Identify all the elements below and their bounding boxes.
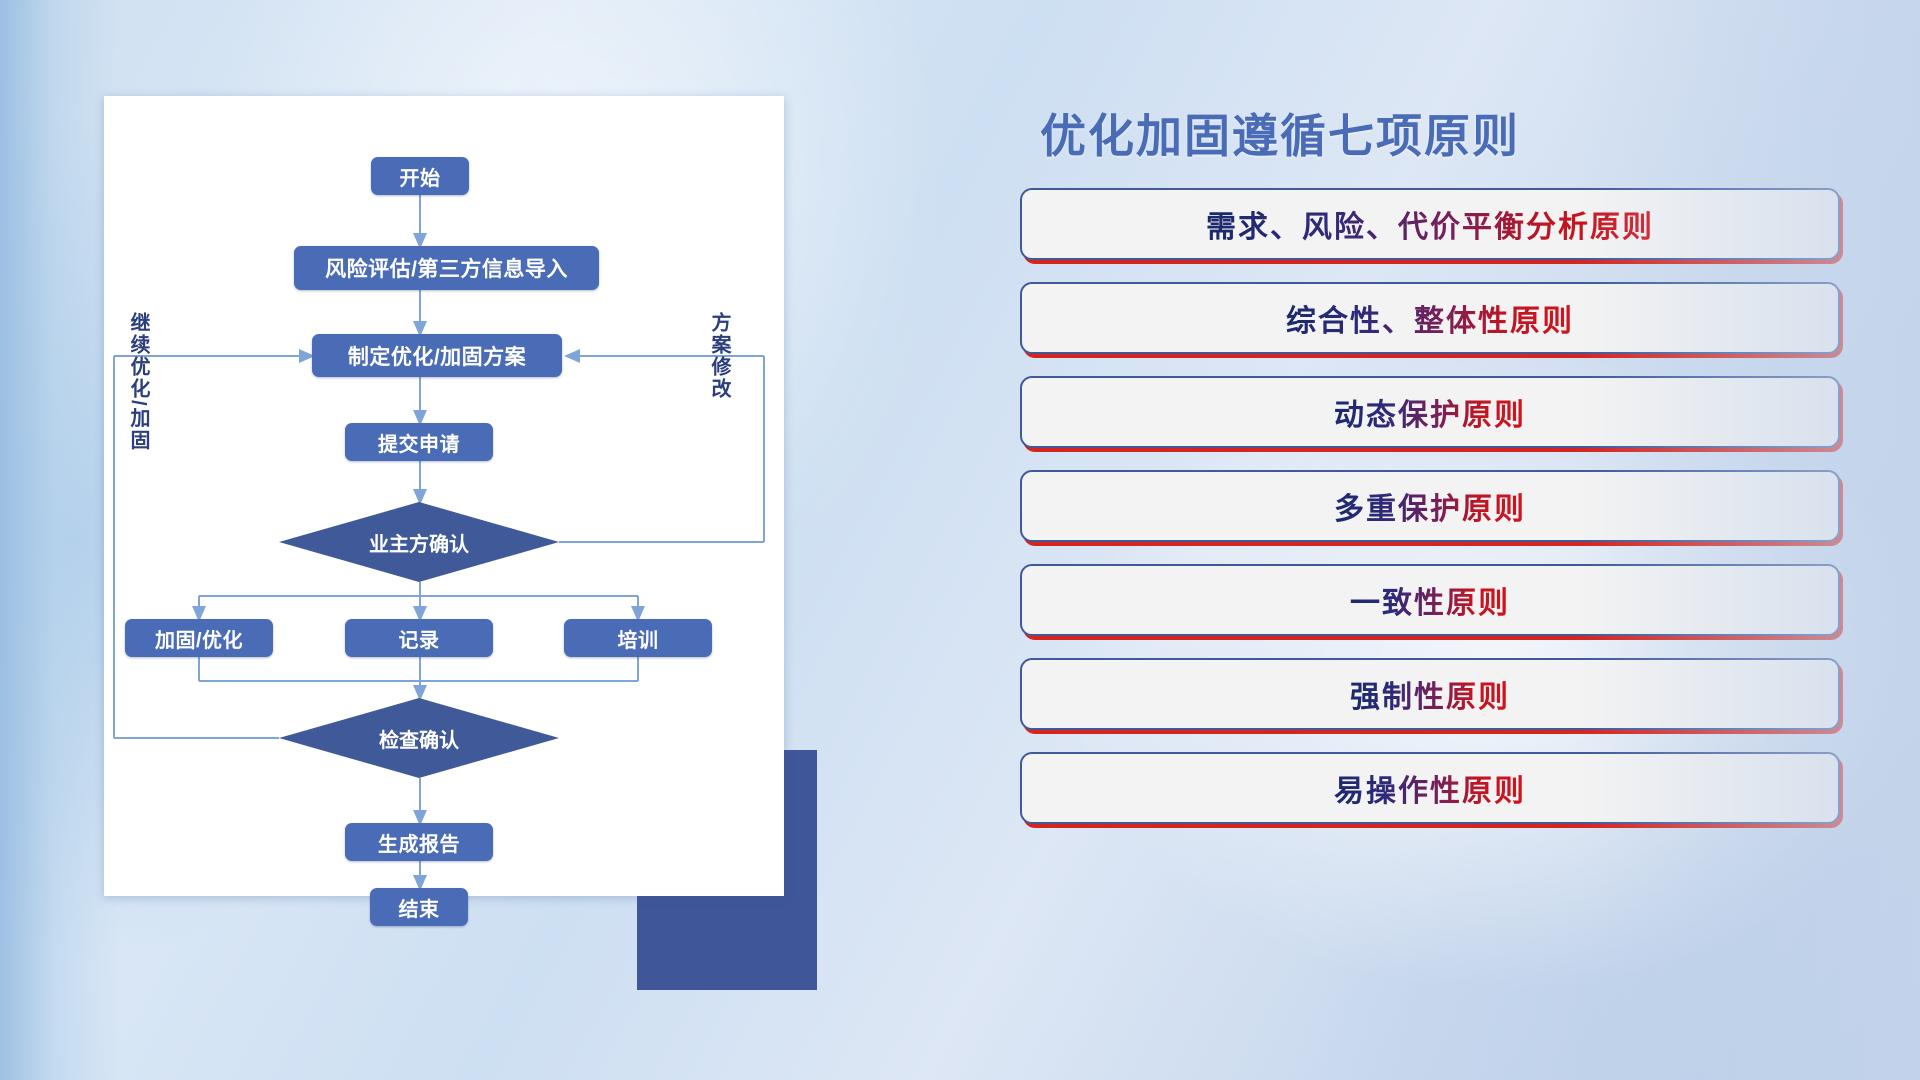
flow-node-check-confirm-label: 检查确认	[379, 724, 459, 753]
principle-item[interactable]: 需求、风险、代价平衡分析原则	[1020, 188, 1840, 260]
principle-label: 需求、风险、代价平衡分析原则	[1206, 202, 1654, 246]
flowchart-card: 开始 风险评估/第三方信息导入 制定优化/加固方案 提交申请 业主方确认 加固/…	[104, 96, 784, 896]
principle-label: 一致性原则	[1350, 578, 1510, 622]
flow-node-owner-confirm[interactable]: 业主方确认	[279, 502, 559, 582]
flow-node-risk-assessment[interactable]: 风险评估/第三方信息导入	[294, 246, 599, 290]
principles-panel: 优化加固遵循七项原则 需求、风险、代价平衡分析原则 综合性、整体性原则 动态保护…	[1020, 100, 1840, 824]
principle-label: 综合性、整体性原则	[1286, 296, 1574, 340]
principle-item[interactable]: 强制性原则	[1020, 658, 1840, 730]
flow-node-check-confirm[interactable]: 检查确认	[279, 698, 559, 778]
flow-node-training[interactable]: 培训	[564, 619, 712, 657]
principle-item[interactable]: 一致性原则	[1020, 564, 1840, 636]
flow-node-submit-application[interactable]: 提交申请	[345, 423, 493, 461]
flow-node-reinforce-optimize[interactable]: 加固/优化	[125, 619, 273, 657]
principle-label: 易操作性原则	[1334, 766, 1526, 810]
flow-node-end[interactable]: 结束	[370, 888, 468, 926]
principle-label: 强制性原则	[1350, 672, 1510, 716]
flow-node-start[interactable]: 开始	[371, 157, 469, 195]
principle-item[interactable]: 动态保护原则	[1020, 376, 1840, 448]
principle-item[interactable]: 综合性、整体性原则	[1020, 282, 1840, 354]
flow-edge-label-right-loop: 方案修改	[708, 312, 729, 400]
flow-edge-label-left-loop: 继续优化/加固	[127, 312, 148, 452]
principle-label: 多重保护原则	[1334, 484, 1526, 528]
flow-node-owner-confirm-label: 业主方确认	[369, 528, 469, 557]
flow-node-generate-report[interactable]: 生成报告	[345, 823, 493, 861]
principle-item[interactable]: 易操作性原则	[1020, 752, 1840, 824]
flow-node-record[interactable]: 记录	[345, 619, 493, 657]
panel-title: 优化加固遵循七项原则	[1040, 100, 1840, 166]
principle-label: 动态保护原则	[1334, 390, 1526, 434]
flow-node-make-plan[interactable]: 制定优化/加固方案	[312, 334, 562, 377]
principle-item[interactable]: 多重保护原则	[1020, 470, 1840, 542]
principles-list: 需求、风险、代价平衡分析原则 综合性、整体性原则 动态保护原则 多重保护原则 一…	[1020, 188, 1840, 824]
slide-background: 开始 风险评估/第三方信息导入 制定优化/加固方案 提交申请 业主方确认 加固/…	[0, 0, 1920, 1080]
